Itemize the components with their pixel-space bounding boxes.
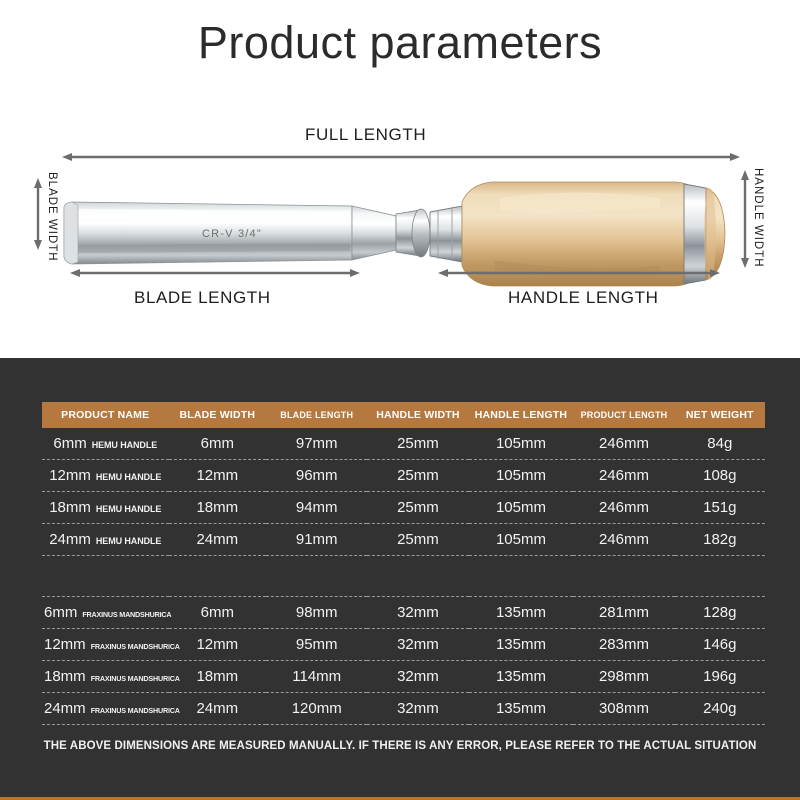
cell-handle-width: 25mm — [367, 492, 468, 524]
cell-blade-length: 114mm — [266, 661, 367, 693]
cell-handle-width: 25mm — [367, 428, 468, 460]
cell-product-name: 18mmHEMU HANDLE — [42, 492, 169, 524]
cell-product-length: 246mm — [573, 492, 674, 524]
column-header-net-weight: NET WEIGHT — [675, 402, 765, 428]
table-row: 12mmHEMU HANDLE 12mm 96mm 25mm 105mm 246… — [42, 460, 765, 492]
cell-handle-length: 135mm — [469, 661, 574, 693]
cell-blade-width: 18mm — [169, 661, 267, 693]
cell-product-name: 24mmFRAXINUS MANDSHURICA — [42, 693, 169, 725]
cell-net-weight: 196g — [675, 661, 765, 693]
cell-blade-width: 18mm — [169, 492, 267, 524]
cell-product-name: 6mmFRAXINUS MANDSHURICA — [42, 597, 169, 629]
cell-size: 24mm — [49, 531, 91, 548]
column-header-product-name: PRODUCT NAME — [42, 402, 169, 428]
full-length-label: FULL LENGTH — [305, 125, 426, 145]
cell-handle-length: 105mm — [469, 460, 574, 492]
cell-size: 6mm — [53, 435, 86, 452]
cell-blade-width: 6mm — [169, 597, 267, 629]
cell-product-name: 6mmHEMU HANDLE — [42, 428, 169, 460]
chisel-illustration: CR-V 3/4" — [0, 110, 800, 355]
table-row: 6mmHEMU HANDLE 6mm 97mm 25mm 105mm 246mm… — [42, 428, 765, 460]
cell-handle-length: 105mm — [469, 492, 574, 524]
cell-blade-length: 97mm — [266, 428, 367, 460]
group-spacer-row — [42, 556, 765, 597]
blade-length-arrow — [70, 268, 360, 278]
measurement-disclaimer: THE ABOVE DIMENSIONS ARE MEASURED MANUAL… — [0, 740, 800, 752]
cell-handle-length: 105mm — [469, 428, 574, 460]
cell-product-length: 283mm — [573, 629, 674, 661]
cell-handle-width: 32mm — [367, 629, 468, 661]
cell-net-weight: 128g — [675, 597, 765, 629]
cell-handle-length: 135mm — [469, 597, 574, 629]
cell-blade-length: 91mm — [266, 524, 367, 556]
cell-blade-width: 24mm — [169, 524, 267, 556]
cell-material: HEMU HANDLE — [96, 536, 161, 546]
cell-product-name: 24mmHEMU HANDLE — [42, 524, 169, 556]
cell-material: HEMU HANDLE — [96, 472, 161, 482]
cell-handle-width: 25mm — [367, 460, 468, 492]
spec-table-body: 6mmHEMU HANDLE 6mm 97mm 25mm 105mm 246mm… — [42, 428, 765, 725]
cell-size: 12mm — [49, 467, 91, 484]
cell-material: FRAXINUS MANDSHURICA — [91, 706, 180, 715]
cell-material: FRAXINUS MANDSHURICA — [91, 642, 180, 651]
cell-size: 6mm — [44, 604, 77, 621]
cell-product-length: 246mm — [573, 460, 674, 492]
cell-product-length: 308mm — [573, 693, 674, 725]
blade-width-arrow — [33, 178, 43, 250]
handle-width-arrow — [740, 170, 750, 268]
cell-product-name: 18mmFRAXINUS MANDSHURICA — [42, 661, 169, 693]
cell-material: HEMU HANDLE — [92, 440, 157, 450]
blade-width-label: BLADE WIDTH — [46, 172, 58, 262]
column-header-blade-width: BLADE WIDTH — [169, 402, 267, 428]
table-row: 24mmHEMU HANDLE 24mm 91mm 25mm 105mm 246… — [42, 524, 765, 556]
table-header-row: PRODUCT NAME BLADE WIDTH BLADE LENGTH HA… — [42, 402, 765, 428]
blade-length-label: BLADE LENGTH — [134, 288, 271, 308]
column-header-product-length: PRODUCT LENGTH — [573, 402, 674, 428]
cell-product-name: 12mmHEMU HANDLE — [42, 460, 169, 492]
column-header-handle-width: HANDLE WIDTH — [367, 402, 468, 428]
cell-blade-length: 95mm — [266, 629, 367, 661]
cell-handle-length: 135mm — [469, 629, 574, 661]
cell-handle-length: 135mm — [469, 693, 574, 725]
handle-length-label: HANDLE LENGTH — [508, 288, 658, 308]
cell-blade-length: 120mm — [266, 693, 367, 725]
cell-net-weight: 146g — [675, 629, 765, 661]
cell-product-length: 298mm — [573, 661, 674, 693]
column-header-blade-length: BLADE LENGTH — [266, 402, 367, 428]
cell-size: 24mm — [44, 700, 86, 717]
table-row: 6mmFRAXINUS MANDSHURICA 6mm 98mm 32mm 13… — [42, 597, 765, 629]
cell-net-weight: 240g — [675, 693, 765, 725]
cell-material: FRAXINUS MANDSHURICA — [82, 610, 171, 619]
cell-product-length: 246mm — [573, 524, 674, 556]
cell-blade-length: 98mm — [266, 597, 367, 629]
cell-net-weight: 151g — [675, 492, 765, 524]
page-title: Product parameters — [0, 18, 800, 68]
column-header-handle-length: HANDLE LENGTH — [469, 402, 574, 428]
group-spacer-cell — [42, 556, 765, 597]
cell-material: HEMU HANDLE — [96, 504, 161, 514]
cell-size: 18mm — [49, 499, 91, 516]
cell-size: 12mm — [44, 636, 86, 653]
cell-product-length: 246mm — [573, 428, 674, 460]
cell-blade-width: 6mm — [169, 428, 267, 460]
table-row: 18mmHEMU HANDLE 18mm 94mm 25mm 105mm 246… — [42, 492, 765, 524]
cell-material: FRAXINUS MANDSHURICA — [91, 674, 180, 683]
handle-length-arrow — [438, 268, 720, 278]
cell-net-weight: 182g — [675, 524, 765, 556]
cell-blade-width: 12mm — [169, 629, 267, 661]
cell-handle-width: 25mm — [367, 524, 468, 556]
cell-product-length: 281mm — [573, 597, 674, 629]
table-row: 24mmFRAXINUS MANDSHURICA 24mm 120mm 32mm… — [42, 693, 765, 725]
cell-blade-width: 12mm — [169, 460, 267, 492]
table-row: 18mmFRAXINUS MANDSHURICA 18mm 114mm 32mm… — [42, 661, 765, 693]
cell-handle-width: 32mm — [367, 661, 468, 693]
cell-handle-length: 105mm — [469, 524, 574, 556]
handle-width-label: HANDLE WIDTH — [752, 168, 764, 268]
spec-table: PRODUCT NAME BLADE WIDTH BLADE LENGTH HA… — [42, 402, 765, 725]
cell-handle-width: 32mm — [367, 693, 468, 725]
spec-panel: PRODUCT NAME BLADE WIDTH BLADE LENGTH HA… — [0, 358, 800, 800]
full-length-arrow — [62, 152, 740, 162]
cell-size: 18mm — [44, 668, 86, 685]
table-row: 12mmFRAXINUS MANDSHURICA 12mm 95mm 32mm … — [42, 629, 765, 661]
blade-engraving-text: CR-V 3/4" — [202, 228, 262, 240]
spec-table-wrap: PRODUCT NAME BLADE WIDTH BLADE LENGTH HA… — [42, 402, 765, 725]
product-diagram: CR-V 3/4" FULL LENGTH BLADE LENGTH HANDL… — [0, 110, 800, 355]
cell-blade-length: 94mm — [266, 492, 367, 524]
cell-blade-width: 24mm — [169, 693, 267, 725]
cell-product-name: 12mmFRAXINUS MANDSHURICA — [42, 629, 169, 661]
cell-net-weight: 108g — [675, 460, 765, 492]
cell-blade-length: 96mm — [266, 460, 367, 492]
cell-net-weight: 84g — [675, 428, 765, 460]
cell-handle-width: 32mm — [367, 597, 468, 629]
